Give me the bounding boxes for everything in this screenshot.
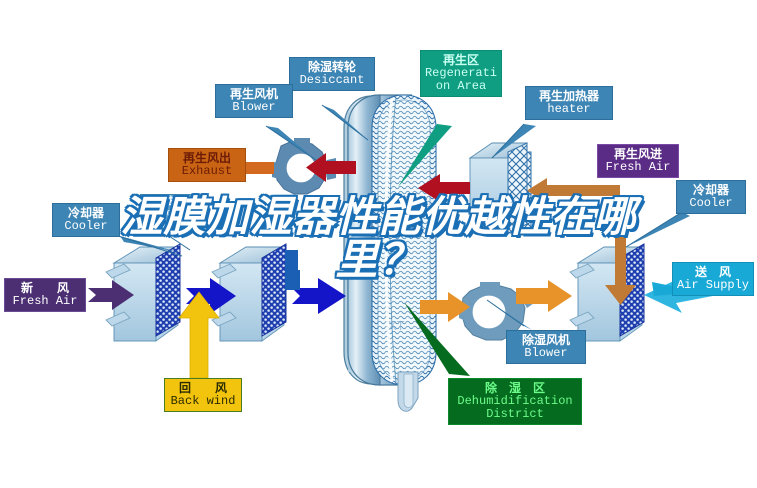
label-regeneration-heater[interactable]: 再生加热器 heater xyxy=(525,86,613,120)
label-dehumidification-blower-cn: 除湿风机 xyxy=(509,334,583,347)
label-cooler-right-cn: 冷却器 xyxy=(679,184,743,197)
label-dehumidification-district-cn: 除 湿 区 xyxy=(451,382,579,395)
label-dehumidification-district-en1: Dehumidification xyxy=(451,395,579,408)
overlay-title-line2: 里？ xyxy=(0,239,757,282)
label-regeneration-fresh-air-in-cn: 再生风进 xyxy=(600,148,676,161)
label-regeneration-area-en1: Regenerati xyxy=(423,67,499,80)
label-desiccant-wheel-cn: 除湿转轮 xyxy=(292,61,372,74)
label-dehumidification-blower[interactable]: 除湿风机 Blower xyxy=(506,330,586,364)
label-desiccant-wheel[interactable]: 除湿转轮 Desiccant xyxy=(289,57,375,91)
label-regeneration-blower-en: Blower xyxy=(218,101,290,114)
label-fresh-air-in-cn: 新 风 xyxy=(7,282,83,295)
label-regeneration-area-cn: 再生区 xyxy=(423,54,499,67)
drain-tray xyxy=(398,372,418,411)
label-desiccant-wheel-en: Desiccant xyxy=(292,74,372,87)
label-exhaust-cn: 再生风出 xyxy=(171,152,243,165)
overlay-title-line1: 湿膜加湿器性能优越性在哪 xyxy=(120,193,636,240)
label-dehumidification-district-en2: District xyxy=(451,408,579,421)
diagram-canvas: XT xyxy=(0,0,757,488)
label-regeneration-blower[interactable]: 再生风机 Blower xyxy=(215,84,293,118)
label-fresh-air-in-en: Fresh Air xyxy=(7,295,83,308)
label-regeneration-fresh-air-in-en: Fresh Air xyxy=(600,161,676,174)
process-arrow-2 xyxy=(292,278,346,314)
label-regeneration-area-en2: on Area xyxy=(423,80,499,93)
label-dehumidification-district[interactable]: 除 湿 区 Dehumidification District xyxy=(448,378,582,425)
label-back-wind-cn: 回 风 xyxy=(167,382,239,395)
label-regeneration-area[interactable]: 再生区 Regenerati on Area xyxy=(420,50,502,97)
svg-text:XT: XT xyxy=(388,318,405,333)
label-back-wind-en: Back wind xyxy=(167,395,239,408)
label-regeneration-fresh-air-in[interactable]: 再生风进 Fresh Air xyxy=(597,144,679,178)
label-regeneration-heater-en: heater xyxy=(528,103,610,116)
label-regeneration-blower-cn: 再生风机 xyxy=(218,88,290,101)
label-exhaust[interactable]: 再生风出 Exhaust xyxy=(168,148,246,182)
overlay-title: 湿膜加湿器性能优越性在哪 里？ xyxy=(0,196,757,282)
label-exhaust-en: Exhaust xyxy=(171,165,243,178)
label-fresh-air-in[interactable]: 新 风 Fresh Air xyxy=(4,278,86,312)
label-regeneration-heater-cn: 再生加热器 xyxy=(528,90,610,103)
label-back-wind[interactable]: 回 风 Back wind xyxy=(164,378,242,412)
label-dehumidification-blower-en: Blower xyxy=(509,347,583,360)
